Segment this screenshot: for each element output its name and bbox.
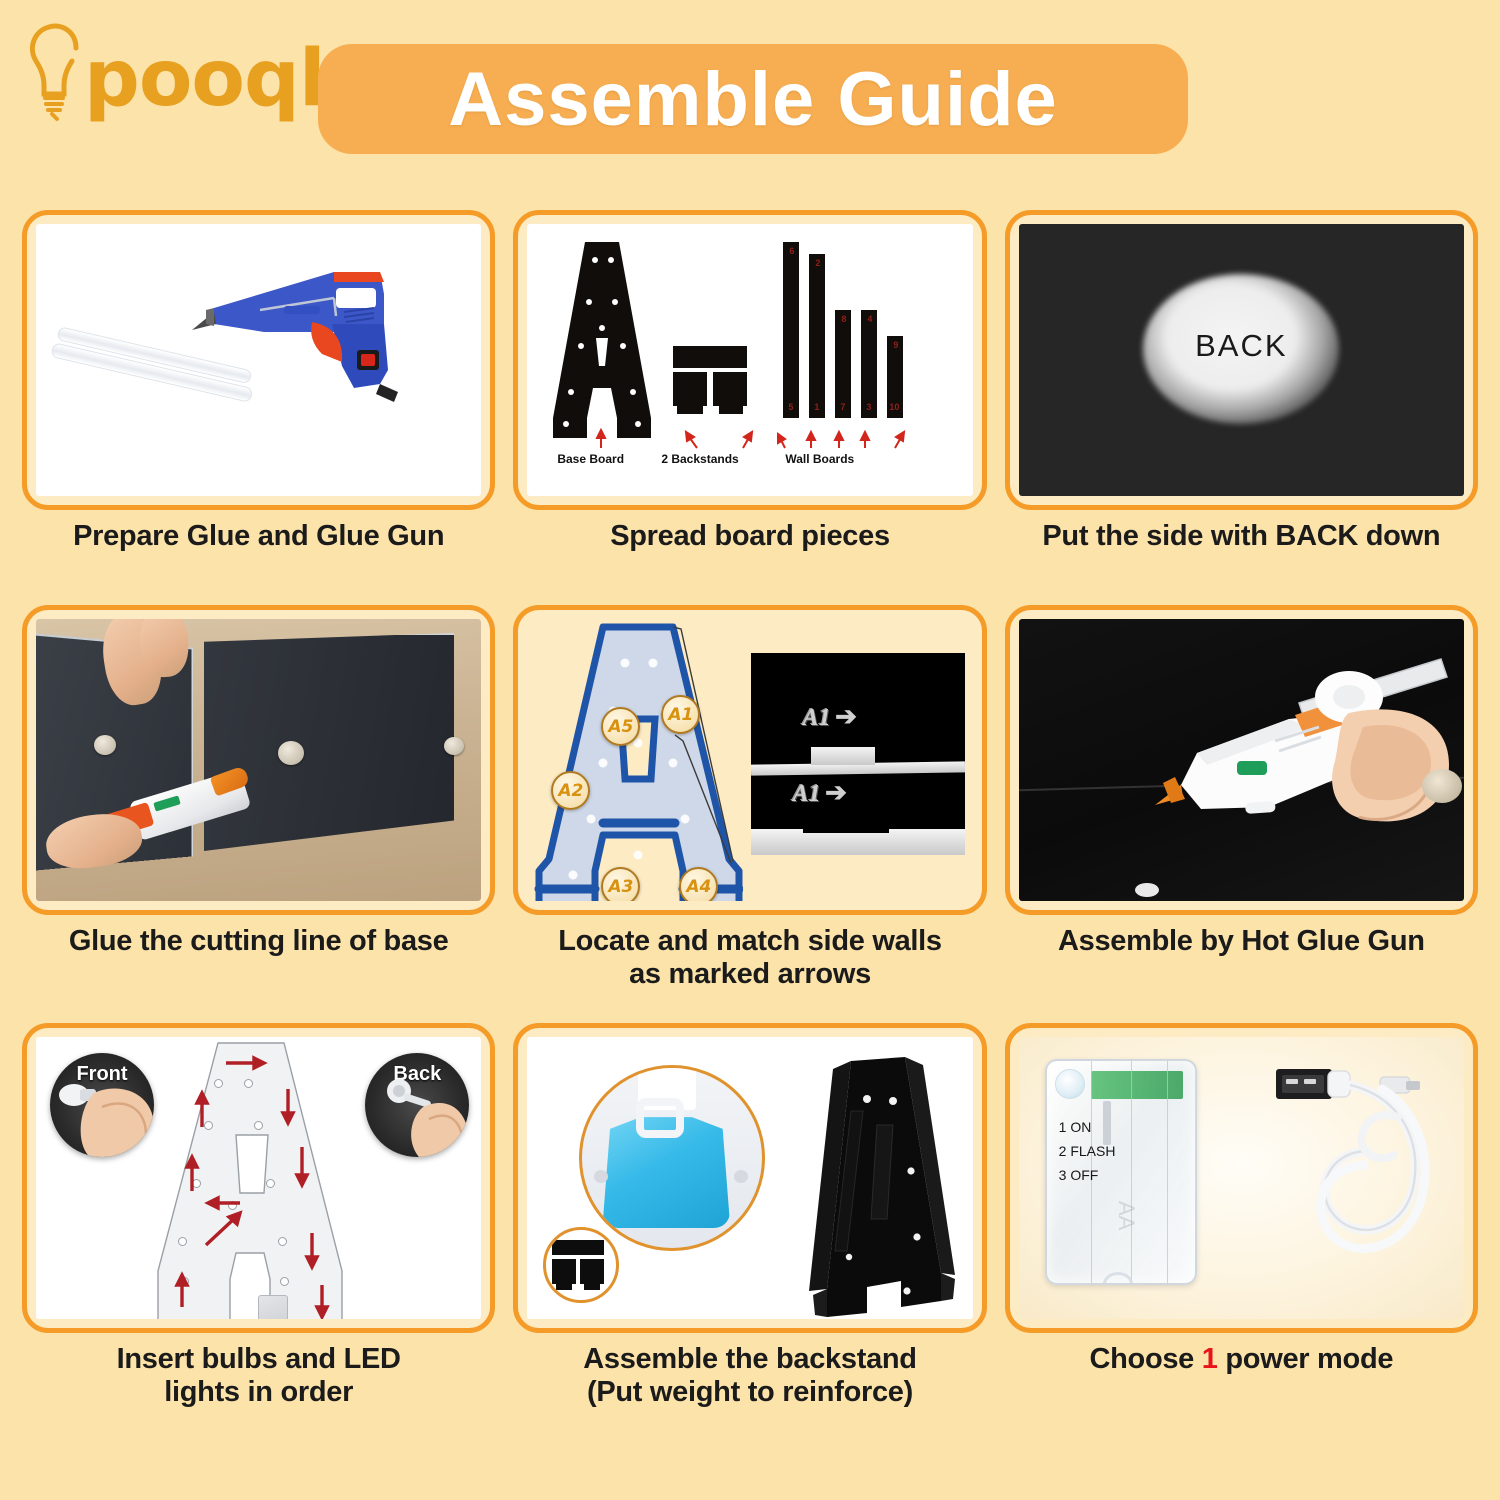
step-card-5: A5 A1 A2 A3 A4 A1 ➔ xyxy=(513,605,986,1023)
battery-divider xyxy=(1167,1061,1169,1283)
wall-boards-label: Wall Boards xyxy=(785,452,854,466)
usb-cable xyxy=(1272,1055,1450,1305)
step-8-caption: Assemble the backstand (Put weight to re… xyxy=(583,1343,916,1409)
wall-board-tab xyxy=(811,747,875,765)
step-card-8: Assemble the backstand (Put weight to re… xyxy=(513,1023,986,1443)
step-6-frame xyxy=(1005,605,1478,915)
step-8-frame xyxy=(513,1023,986,1333)
step-3-frame: BACK xyxy=(1005,210,1478,510)
step-card-1: Prepare Glue and Glue Gun xyxy=(22,210,495,605)
glue-residue xyxy=(1135,883,1159,897)
front-bulb-inset: Front xyxy=(50,1053,154,1157)
hanging-loop xyxy=(1103,1272,1133,1285)
wall-board-number: 9 xyxy=(893,340,898,350)
inset-marker-label: A1 xyxy=(793,781,821,807)
notch-cutout xyxy=(803,813,889,833)
step-1-caption: Prepare Glue and Glue Gun xyxy=(73,520,444,553)
step-5-caption-line-2: as marked arrows xyxy=(558,958,942,991)
base-board-label: Base Board xyxy=(557,452,624,466)
step-card-6: Assemble by Hot Glue Gun xyxy=(1005,605,1478,1023)
step-card-4: Glue the cutting line of base xyxy=(22,605,495,1023)
magnet-dot xyxy=(278,741,304,765)
arrow-right-icon: ➔ xyxy=(825,777,847,807)
back-bulb-inset: Back xyxy=(365,1053,469,1157)
magnet-dot xyxy=(94,735,116,755)
wall-board-number: 4 xyxy=(867,314,872,324)
back-side-photo: BACK xyxy=(1019,224,1464,496)
backstands-label: 2 Backstands xyxy=(661,452,738,466)
glue-gun-and-glue-sticks-photo xyxy=(36,224,481,496)
step-8-caption-line-1: Assemble the backstand xyxy=(583,1343,916,1376)
title-banner: Assemble Guide xyxy=(318,44,1188,154)
brand-logo: pooqla xyxy=(24,18,304,128)
wall-board-number: 8 xyxy=(841,314,846,324)
page-header: pooqla Assemble Guide xyxy=(0,0,1500,200)
wall-board-number: 2 xyxy=(815,258,820,268)
step-4-caption: Glue the cutting line of base xyxy=(69,925,449,958)
step-2-caption: Spread board pieces xyxy=(610,520,890,553)
magnet-dot xyxy=(444,737,464,755)
step-1-frame xyxy=(22,210,495,510)
back-marking-text: BACK xyxy=(1195,328,1287,364)
step-9-caption: Choose 1 power mode xyxy=(1089,1343,1393,1376)
step-7-caption-line-2: lights in order xyxy=(117,1376,401,1409)
inset-marker-row-top: A1 ➔ xyxy=(803,701,857,732)
page-title: Assemble Guide xyxy=(448,56,1058,143)
wall-board-number: 7 xyxy=(840,402,845,412)
step-7-caption-line-1: Insert bulbs and LED xyxy=(117,1343,401,1376)
step-card-7: Front Back xyxy=(22,1023,495,1443)
inset-marker-row-bottom: A1 ➔ xyxy=(793,777,847,808)
battery-box-and-usb-cable-photo: 1 ON 2 FLASH 3 OFF AA xyxy=(1019,1037,1464,1319)
battery-box: 1 ON 2 FLASH 3 OFF AA xyxy=(1045,1059,1197,1285)
step-card-2: 6 2 8 4 9 5 1 7 3 10 xyxy=(513,210,986,605)
backstand-pieces xyxy=(673,346,749,418)
wall-board-number: 5 xyxy=(788,402,793,412)
right-base-panel xyxy=(204,633,454,851)
arrow-right-icon: ➔ xyxy=(835,701,857,731)
marker-badge-a3: A3 xyxy=(601,867,640,901)
water-weight-closeup xyxy=(579,1065,765,1251)
step-card-3: BACK Put the side with BACK down xyxy=(1005,210,1478,605)
wall-board-6-5 xyxy=(783,242,799,418)
embossed-marking: AA xyxy=(1099,1201,1139,1241)
bulb-insertion-order-diagram: Front Back xyxy=(36,1037,481,1319)
step-4-frame xyxy=(22,605,495,915)
magnet-dot xyxy=(1422,769,1462,803)
assemble-guide-page: pooqla Assemble Guide xyxy=(0,0,1500,1500)
backstand-piece-icon xyxy=(552,1240,610,1292)
step-card-9: 1 ON 2 FLASH 3 OFF AA xyxy=(1005,1023,1478,1443)
step-8-caption-line-2: (Put weight to reinforce) xyxy=(583,1376,916,1409)
step-5-frame: A5 A1 A2 A3 A4 A1 ➔ xyxy=(513,605,986,915)
wall-board-number: 10 xyxy=(889,402,899,412)
battery-contact xyxy=(1103,1101,1111,1145)
magnet-dot xyxy=(734,1170,748,1183)
steps-grid: Prepare Glue and Glue Gun xyxy=(0,210,1500,1480)
step-9-frame: 1 ON 2 FLASH 3 OFF AA xyxy=(1005,1023,1478,1333)
blue-glue-gun xyxy=(184,250,424,420)
step-5-caption: Locate and match side walls as marked ar… xyxy=(558,925,942,991)
side-wall-match-inset: A1 ➔ A1 ➔ xyxy=(751,653,965,853)
battery-box-placement xyxy=(258,1295,288,1319)
board-pieces-diagram: 6 2 8 4 9 5 1 7 3 10 xyxy=(527,224,972,496)
wall-board-number: 6 xyxy=(789,246,794,256)
wall-board-number: 3 xyxy=(866,402,871,412)
marker-badge-a4: A4 xyxy=(679,867,718,901)
inset-marker-label: A1 xyxy=(803,705,831,731)
step-5-caption-line-1: Locate and match side walls xyxy=(558,925,942,958)
letter-a-with-side-walls xyxy=(533,623,743,901)
assembled-backstand xyxy=(789,1051,957,1319)
side-wall-matching-diagram: A5 A1 A2 A3 A4 A1 ➔ xyxy=(527,619,972,901)
bag-handle xyxy=(636,1098,684,1138)
wall-board-2-1 xyxy=(809,254,825,418)
wiring-order-arrows xyxy=(144,1041,356,1319)
step-7-frame: Front Back xyxy=(22,1023,495,1333)
power-mode-item-off: 3 OFF xyxy=(1059,1163,1116,1187)
hot-glue-gun-assembly-photo xyxy=(1019,619,1464,901)
backstand-piece-closeup xyxy=(543,1227,619,1303)
step-3-caption: Put the side with BACK down xyxy=(1042,520,1440,553)
wall-board-number: 1 xyxy=(814,402,819,412)
label-arrows xyxy=(547,418,927,452)
gluing-base-cut-line-photo xyxy=(36,619,481,901)
step-9-caption-prefix: Choose xyxy=(1089,1343,1201,1375)
mode-switch-knob[interactable] xyxy=(1055,1069,1085,1099)
step-2-frame: 6 2 8 4 9 5 1 7 3 10 xyxy=(513,210,986,510)
step-9-caption-highlight: 1 xyxy=(1202,1343,1218,1375)
battery-divider xyxy=(1131,1061,1133,1283)
backstand-assembly-photo xyxy=(527,1037,972,1319)
step-6-caption: Assemble by Hot Glue Gun xyxy=(1058,925,1425,958)
base-board-letter-a xyxy=(553,242,651,438)
circuit-board xyxy=(1091,1071,1183,1099)
step-7-caption: Insert bulbs and LED lights in order xyxy=(117,1343,401,1409)
step-9-caption-suffix: power mode xyxy=(1218,1343,1394,1375)
white-hot-glue-gun-in-hand xyxy=(1149,657,1449,847)
